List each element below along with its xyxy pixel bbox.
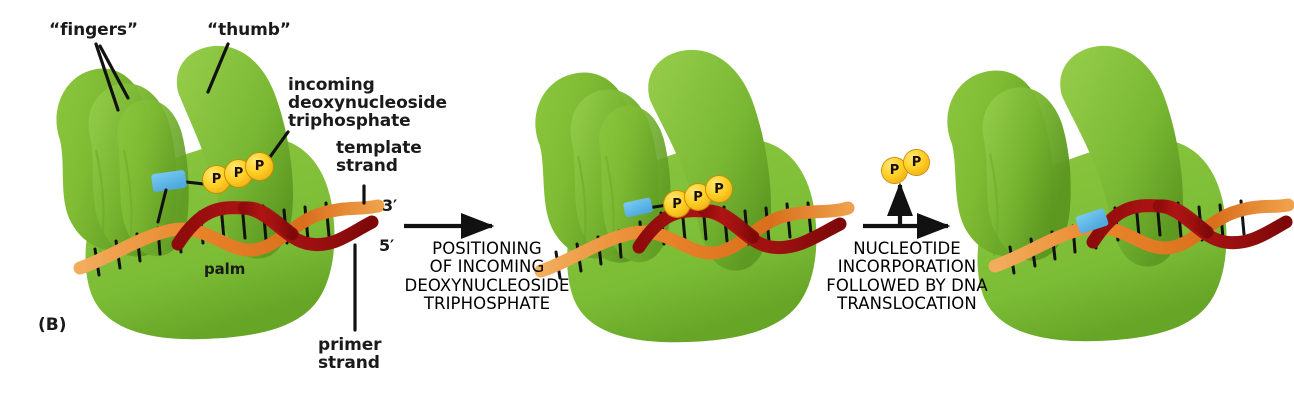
phosphate-label: P [212, 172, 222, 187]
step-2-caption-line4: TRANSLOCATION [818, 295, 996, 313]
label-three-prime: 3′ [382, 198, 397, 215]
step-1-caption: POSITIONING OF INCOMING DEOXYNUCLEOSIDE … [398, 240, 576, 314]
phosphate-label: P [672, 197, 682, 212]
label-panel-id: (B) [38, 317, 67, 335]
label-incoming-line3: triphosphate [288, 113, 411, 131]
label-five-prime: 5′ [379, 238, 394, 255]
step-1-caption-line2: OF INCOMING [398, 258, 576, 276]
phosphate-label: P [714, 182, 724, 197]
label-thumb: “thumb” [207, 22, 291, 40]
panel-2-phosphate-3: P [706, 176, 732, 202]
label-primer-line2: strand [318, 355, 380, 373]
phosphate-label: P [693, 190, 703, 205]
step-1-caption-line4: TRIPHOSPHATE [398, 295, 576, 313]
step-1-caption-line3: DEOXYNUCLEOSIDE [398, 277, 576, 295]
step-2-arrow [863, 185, 948, 228]
label-template-line2: strand [336, 158, 398, 176]
phosphate-label: P [255, 159, 265, 174]
step-2-caption-line1: NUCLEOTIDE [818, 240, 996, 258]
diagram-graphics [0, 0, 1294, 400]
step-2-caption-line3: FOLLOWED BY DNA [818, 277, 996, 295]
phosphate-label: P [234, 166, 244, 181]
label-palm: palm [204, 262, 245, 278]
figure-dna-polymerase-mechanism: P P P P P P P P “fingers” “thumb” incomi… [0, 0, 1294, 400]
step-2-caption-line2: INCORPORATION [818, 258, 996, 276]
label-fingers: “fingers” [49, 22, 138, 40]
phosphate-label: P [890, 163, 900, 178]
released-phosphate-2: P [904, 150, 929, 175]
step-1-caption-line1: POSITIONING [398, 240, 576, 258]
panel-1-phosphate-3: P [246, 153, 273, 180]
panel-1-phosphate-linker [186, 182, 204, 184]
phosphate-label: P [912, 155, 922, 170]
step-2-caption: NUCLEOTIDE INCORPORATION FOLLOWED BY DNA… [818, 240, 996, 314]
